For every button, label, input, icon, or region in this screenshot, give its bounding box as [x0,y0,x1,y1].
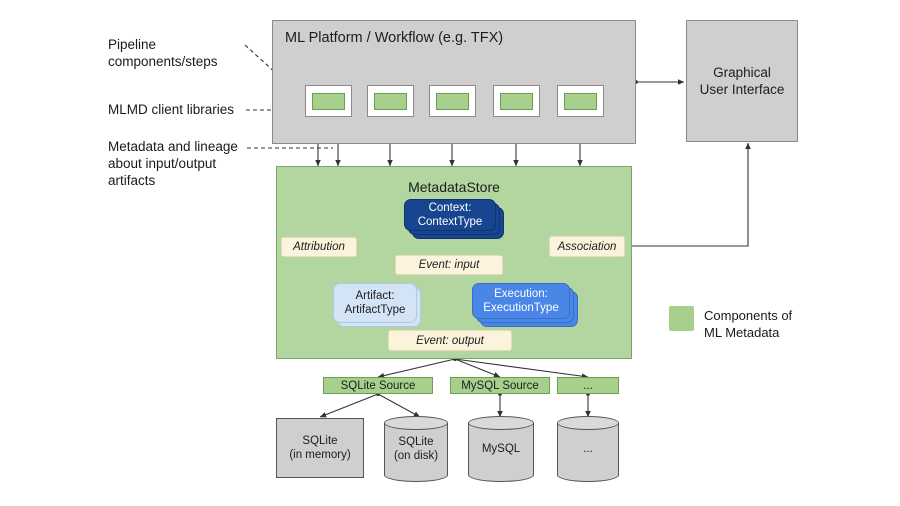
attribution-label: Attribution [293,241,345,253]
execution-node[interactable]: Execution: ExecutionType [472,283,570,319]
pipeline-component-5[interactable] [557,85,604,117]
source-pill-other[interactable]: ... [557,377,619,394]
database-sqlite-on-disk[interactable]: SQLite (on disk) [384,416,448,482]
event-output-tag[interactable]: Event: output [388,330,512,351]
attribution-tag[interactable]: Attribution [281,237,357,257]
graphical-user-interface-box[interactable]: Graphical User Interface [686,20,798,142]
source-pill-mysql-label: MySQL Source [461,380,539,392]
execution-node-label: Execution: ExecutionType [483,287,558,315]
artifact-node[interactable]: Artifact: ArtifactType [333,283,417,323]
annotation-metadata-lineage: Metadata and lineage about input/output … [108,138,268,189]
mlmd-client-library-4 [500,93,533,110]
event-input-label: Event: input [419,259,480,271]
source-pill-sqlite-label: SQLite Source [341,380,416,392]
database-sqlite-on-disk-label: SQLite (on disk) [384,416,448,482]
metadata-store-title: MetadataStore [277,179,631,195]
database-mysql-label: MySQL [468,416,534,482]
legend-color-swatch [669,306,694,331]
mlmd-client-library-2 [374,93,407,110]
source-pill-mysql[interactable]: MySQL Source [450,377,550,394]
event-input-tag[interactable]: Event: input [395,255,503,275]
pipeline-component-1[interactable] [305,85,352,117]
association-tag[interactable]: Association [549,236,625,257]
mlmd-client-library-5 [564,93,597,110]
context-node-label: Context: ContextType [418,201,483,229]
legend-label: Components of ML Metadata [704,307,834,341]
artifact-node-label: Artifact: ArtifactType [345,289,406,317]
context-node[interactable]: Context: ContextType [404,199,496,231]
database-other-label: ... [557,416,619,482]
mlmd-client-library-3 [436,93,469,110]
source-pill-sqlite[interactable]: SQLite Source [323,377,433,394]
pipeline-component-2[interactable] [367,85,414,117]
annotation-pipeline-components: Pipeline components/steps [108,36,258,70]
source-pill-other-label: ... [583,380,593,392]
database-other[interactable]: ... [557,416,619,482]
database-mysql[interactable]: MySQL [468,416,534,482]
ml-platform-box: ML Platform / Workflow (e.g. TFX) [272,20,636,144]
mlmd-client-library-1 [312,93,345,110]
association-label: Association [558,241,617,253]
annotation-mlmd-client-libraries: MLMD client libraries [108,101,268,118]
pipeline-component-3[interactable] [429,85,476,117]
ml-platform-title: ML Platform / Workflow (e.g. TFX) [285,30,503,46]
database-sqlite-in-memory[interactable]: SQLite (in memory) [276,418,364,478]
event-output-label: Event: output [416,335,484,347]
diagram-canvas: Pipeline components/steps MLMD client li… [0,0,900,506]
pipeline-component-4[interactable] [493,85,540,117]
database-sqlite-in-memory-label: SQLite (in memory) [289,434,350,462]
gui-label: Graphical User Interface [700,64,785,98]
